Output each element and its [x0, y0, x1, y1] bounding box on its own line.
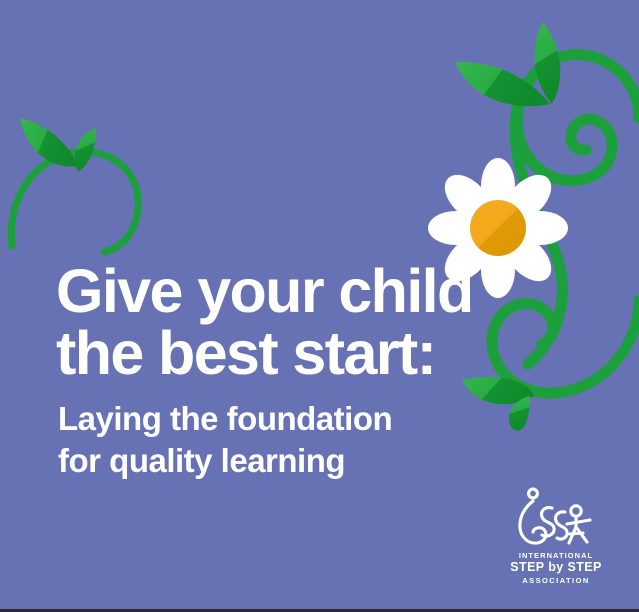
vine-left-spiral: [11, 118, 138, 252]
headline-line-1: Give your child: [56, 262, 476, 322]
issa-logo: INTERNATIONAL STEP by STEP ASSOCIATION: [508, 486, 604, 585]
page-subtitle: Laying the foundation for quality learni…: [58, 398, 478, 482]
logo-line-association: ASSOCIATION: [508, 576, 604, 585]
book-cover: Give your child the best start: Laying t…: [0, 0, 639, 612]
page-title: Give your child the best start:: [56, 262, 476, 384]
subhead-line-2: for quality learning: [58, 440, 478, 482]
subhead-line-1: Laying the foundation: [58, 398, 478, 440]
vine-top-right-spiral: [455, 22, 639, 364]
vine-bottom-right-spiral: [462, 300, 639, 431]
headline-line-2: the best start:: [56, 324, 476, 384]
issa-logo-text: INTERNATIONAL STEP by STEP ASSOCIATION: [508, 551, 604, 585]
logo-line-step-by-step: STEP by STEP: [508, 560, 604, 576]
logo-line-international: INTERNATIONAL: [508, 551, 604, 560]
issa-parent-and-child-icon: [508, 486, 604, 548]
daisy-center: [470, 200, 526, 256]
